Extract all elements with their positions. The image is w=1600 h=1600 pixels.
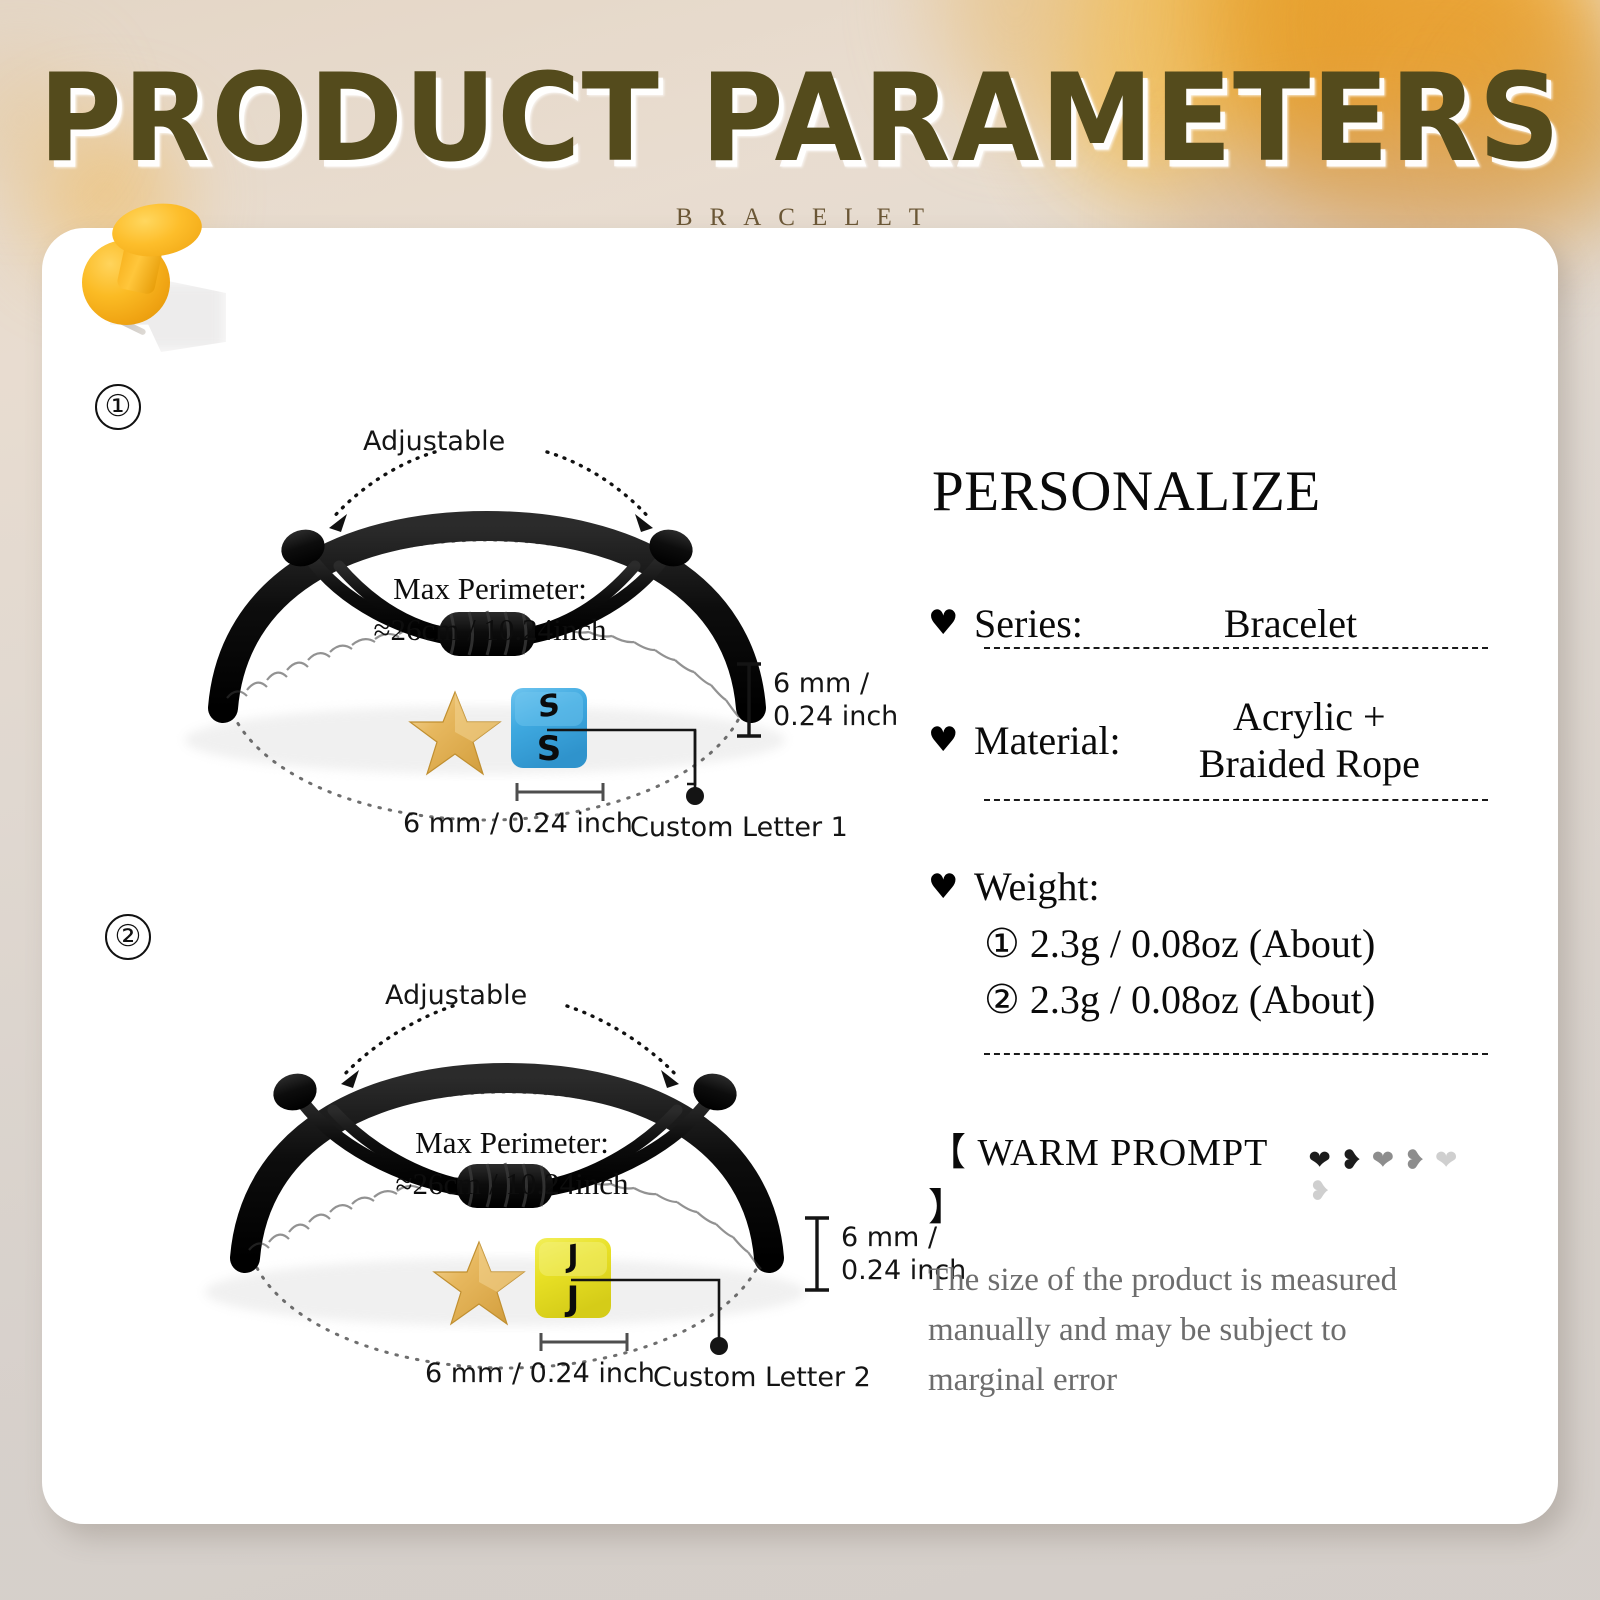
spec-row-series: ♥ Series: Bracelet	[928, 600, 1488, 659]
spec-divider	[984, 1053, 1488, 1055]
spec-value-material-line1: Acrylic +	[1131, 693, 1488, 740]
warm-prompt-title: 【 WARM PROMPT 】 ❤❥❤❥❤❥	[928, 1121, 1488, 1231]
panel-title-text: PERSONALIZE	[932, 460, 1321, 523]
max-perimeter-value-2: ≈26cm / 10.24inch	[367, 1163, 657, 1204]
infographic-page: PRODUCT PARAMETERS BRACELET ①	[0, 0, 1600, 1600]
spec-row-weight: ♥ Weight: ① 2.3g / 0.08oz (About) ② 2.3g…	[928, 863, 1488, 1054]
panel-title: PERSONALIZE	[928, 462, 1327, 522]
custom-letter-label-2: Custom Letter 2	[653, 1362, 871, 1393]
pushpin-icon	[60, 192, 230, 372]
spec-list: ♥ Series: Bracelet ♥ Material: Acrylic +…	[928, 600, 1488, 1055]
weight-line-1: ① 2.3g / 0.08oz (About)	[984, 916, 1488, 971]
spec-value-series: Bracelet	[1083, 600, 1488, 647]
page-title: PRODUCT PARAMETERS	[0, 58, 1600, 179]
heart-icon: ♥	[928, 723, 974, 757]
custom-letter-label-1: Custom Letter 1	[630, 812, 848, 843]
spec-key-material: Material:	[974, 717, 1121, 764]
product-diagram-1: ①	[95, 380, 925, 860]
double-heart-icons: ❤❥❤❥❤❥	[1308, 1145, 1488, 1207]
svg-text:S: S	[538, 687, 560, 725]
header: PRODUCT PARAMETERS BRACELET	[0, 0, 1600, 232]
double-heart-icon: ❤❥	[1308, 1145, 1371, 1176]
max-perimeter-value-1: ≈26cm / 10.24inch	[345, 609, 635, 650]
svg-text:J: J	[565, 1279, 580, 1319]
warm-prompt-title-text: 【 WARM PROMPT 】	[928, 1121, 1296, 1231]
band-height-label-1-line1: 6 mm /	[773, 668, 898, 701]
spec-key-series: Series:	[974, 600, 1083, 647]
warm-prompt-line-1: The size of the product is measured	[928, 1255, 1448, 1305]
warm-prompt-line-2: manually and may be subject to	[928, 1305, 1448, 1355]
svg-text:J: J	[565, 1238, 578, 1275]
heart-icon: ♥	[928, 870, 974, 904]
warm-prompt-line-3: marginal error	[928, 1355, 1448, 1405]
heart-icon: ♥	[928, 606, 974, 640]
max-perimeter-label-2: Max Perimeter:	[367, 1122, 657, 1163]
spec-divider	[984, 647, 1488, 649]
adjustable-label-2: Adjustable	[385, 980, 527, 1011]
bead-width-label-2: 6 mm / 0.24 inch	[425, 1358, 655, 1389]
bead-width-label-1: 6 mm / 0.24 inch	[403, 808, 633, 839]
svg-text:S: S	[537, 729, 562, 769]
adjustable-label-1: Adjustable	[363, 426, 505, 457]
spec-value-material: Acrylic + Braided Rope	[1121, 693, 1488, 787]
double-heart-icon: ❤❥	[1372, 1145, 1435, 1176]
band-height-label-1-line2: 0.24 inch	[773, 701, 898, 734]
warm-prompt-body: The size of the product is measured manu…	[928, 1255, 1448, 1405]
spec-row-material: ♥ Material: Acrylic + Braided Rope	[928, 693, 1488, 811]
personalize-panel: PERSONALIZE ♥ Series: Bracelet ♥ Materia…	[928, 462, 1488, 1405]
weight-line-2: ② 2.3g / 0.08oz (About)	[984, 972, 1488, 1027]
spec-value-material-line2: Braided Rope	[1131, 740, 1488, 787]
spec-key-weight: Weight:	[974, 863, 1100, 910]
product-diagram-2: ②	[105, 900, 935, 1400]
warm-prompt-section: 【 WARM PROMPT 】 ❤❥❤❥❤❥ The size of the p…	[928, 1121, 1488, 1405]
max-perimeter-label-1: Max Perimeter:	[345, 568, 635, 609]
spec-divider	[984, 799, 1488, 801]
